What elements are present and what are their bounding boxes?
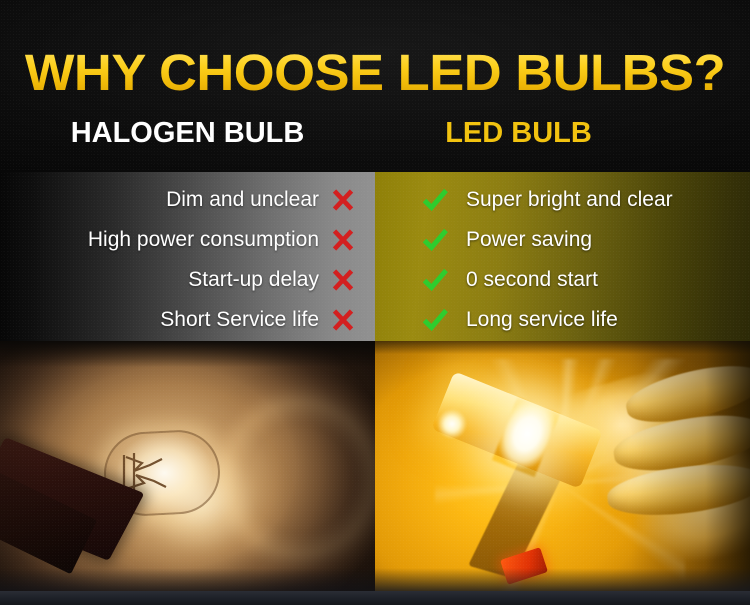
feature-label: Start-up delay: [188, 268, 319, 292]
check-icon: [421, 266, 449, 294]
comparison-panel: Dim and unclear High power consumption S…: [0, 172, 750, 341]
check-icon: [421, 226, 449, 254]
cross-icon: [329, 266, 357, 294]
led-bulb-photo: [375, 341, 750, 605]
list-item: Power saving: [375, 220, 750, 260]
feature-label: Short Service life: [160, 308, 319, 332]
list-item: Dim and unclear: [0, 180, 375, 220]
cross-icon: [329, 306, 357, 334]
feature-label: Super bright and clear: [466, 188, 673, 212]
cross-icon: [329, 186, 357, 214]
list-item: Super bright and clear: [375, 180, 750, 220]
feature-label: Dim and unclear: [166, 188, 319, 212]
page-title: WHY CHOOSE LED BULBS?: [0, 47, 750, 99]
column-heading-halogen: HALOGEN BULB: [0, 117, 375, 149]
promo-poster: WHY CHOOSE LED BULBS? HALOGEN BULB LED B…: [0, 0, 750, 605]
bottom-edge-strip: [0, 591, 750, 605]
halogen-bulb-photo: [0, 341, 375, 605]
photo-strip: [0, 341, 750, 605]
list-item: High power consumption: [0, 220, 375, 260]
feature-label: High power consumption: [88, 228, 319, 252]
header-band: WHY CHOOSE LED BULBS? HALOGEN BULB LED B…: [0, 0, 750, 172]
feature-label: 0 second start: [466, 268, 598, 292]
cross-icon: [329, 226, 357, 254]
check-icon: [421, 306, 449, 334]
photo-vignette: [0, 341, 375, 605]
column-heading-led: LED BULB: [375, 117, 750, 149]
list-item: Long service life: [375, 300, 750, 340]
list-item: Start-up delay: [0, 260, 375, 300]
list-item: Short Service life: [0, 300, 375, 340]
feature-label: Power saving: [466, 228, 592, 252]
list-item: 0 second start: [375, 260, 750, 300]
photo-vignette: [375, 341, 750, 605]
led-feature-panel: Super bright and clear Power saving 0 se…: [375, 172, 750, 341]
led-feature-list: Super bright and clear Power saving 0 se…: [375, 172, 750, 341]
halogen-feature-list: Dim and unclear High power consumption S…: [0, 172, 375, 341]
halogen-feature-panel: Dim and unclear High power consumption S…: [0, 172, 375, 341]
check-icon: [421, 186, 449, 214]
feature-label: Long service life: [466, 308, 618, 332]
